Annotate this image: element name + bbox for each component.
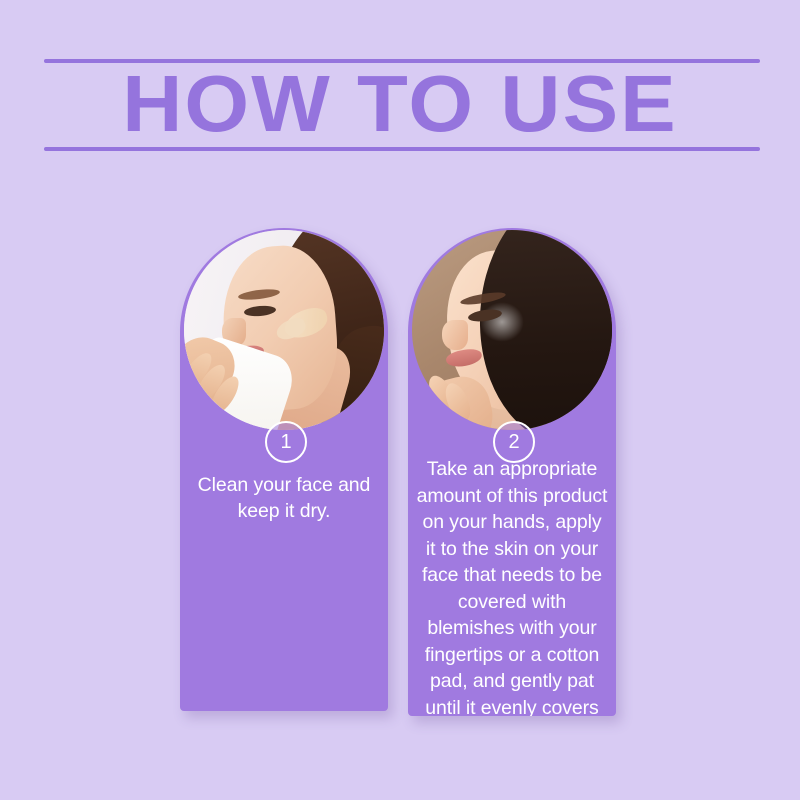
- step-1-number-badge: 1: [265, 421, 307, 463]
- step-card-2: 2 Take an appropriate amount of this pro…: [408, 228, 616, 716]
- step-2-description: Take an appropriate amount of this produ…: [416, 456, 608, 716]
- step-2-photo: [412, 230, 612, 430]
- step-1-description: Clean your face and keep it dry.: [188, 472, 380, 524]
- header: HOW TO USE: [0, 0, 800, 190]
- step-card-1: 1 Clean your face and keep it dry.: [180, 228, 388, 711]
- photo-2-cheek-highlight: [480, 302, 524, 342]
- step-1-number: 1: [280, 432, 291, 452]
- page-title: HOW TO USE: [0, 62, 800, 146]
- step-1-photo: [184, 230, 384, 430]
- photo-2-nose: [442, 320, 468, 350]
- bottom-divider-line: [44, 147, 760, 151]
- step-2-number: 2: [508, 432, 519, 452]
- how-to-use-poster: HOW TO USE 1 Clean your face and: [0, 0, 800, 800]
